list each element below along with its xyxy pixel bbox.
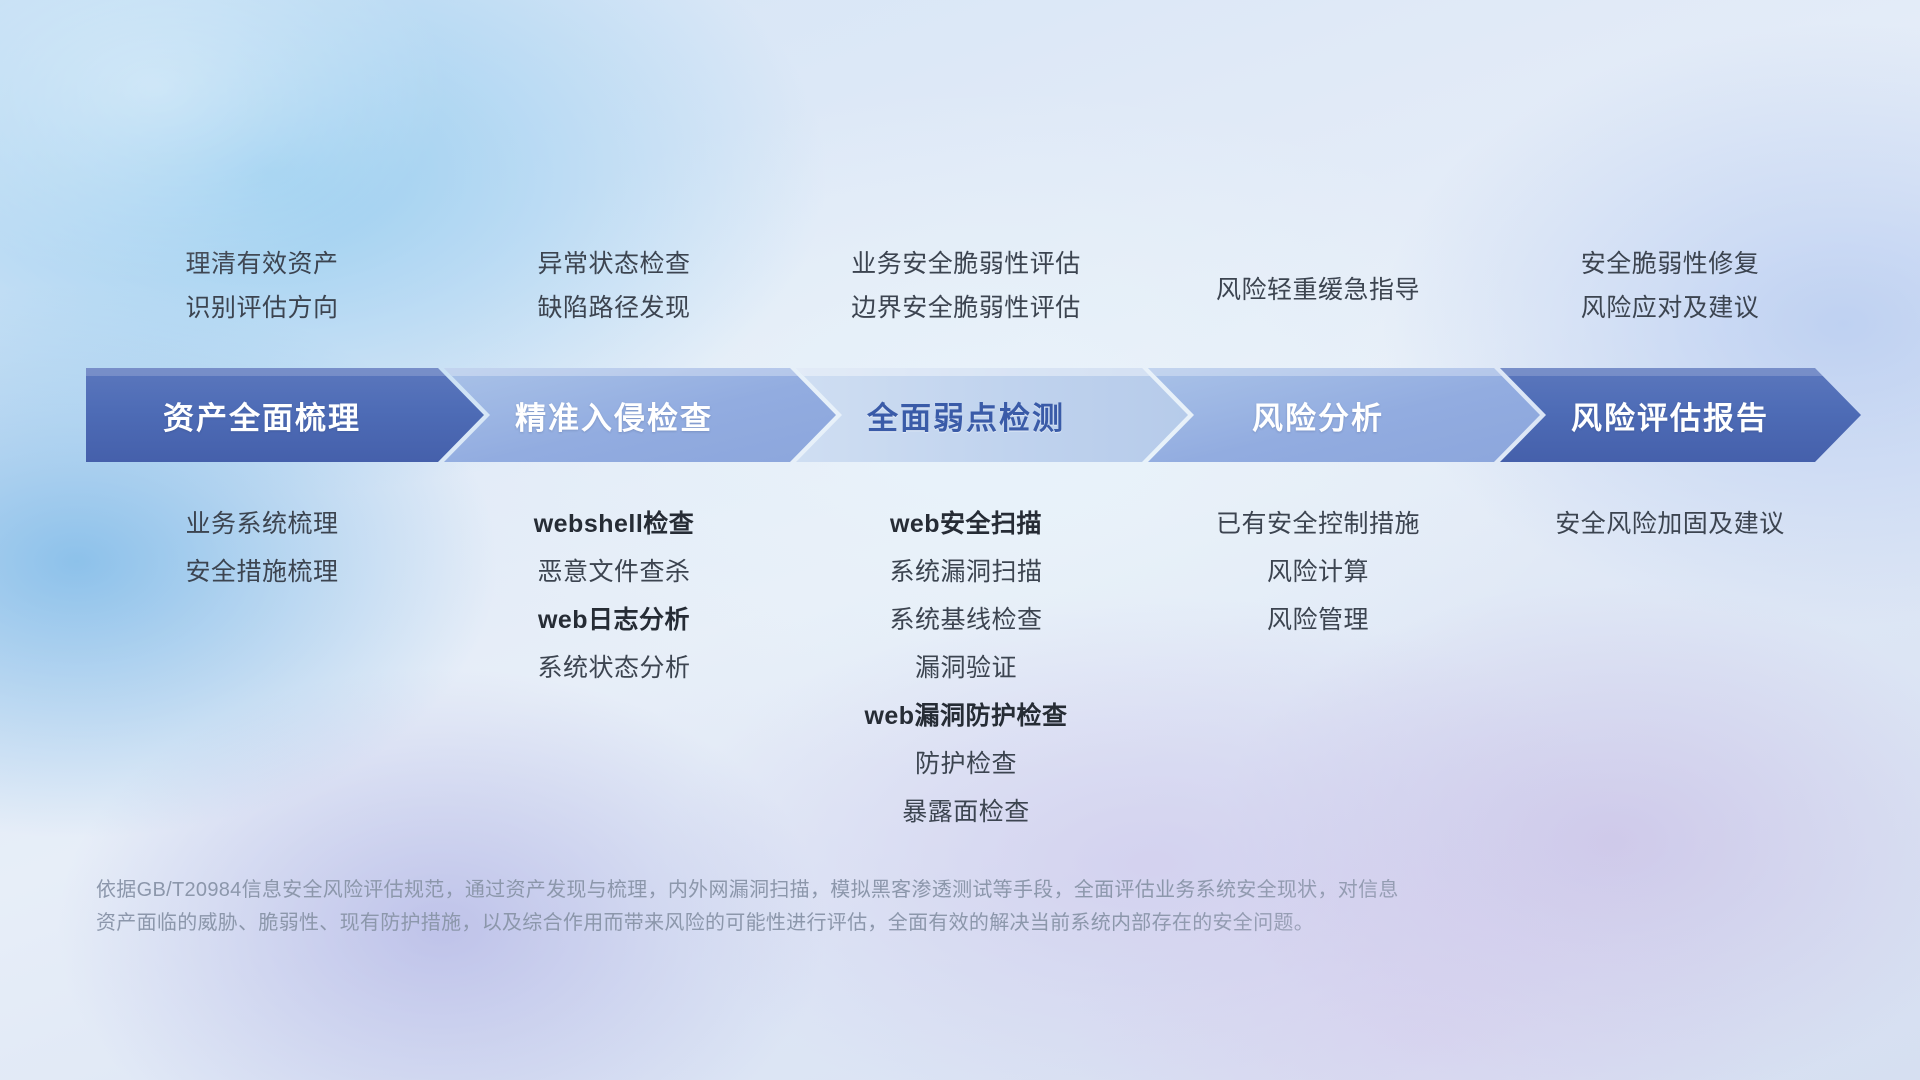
top-column-risk-report: 安全脆弱性修复 风险应对及建议 — [1494, 230, 1846, 330]
footer-description: 依据GB/T20984信息安全风险评估规范，通过资产发现与梳理，内外网漏洞扫描，… — [96, 874, 1596, 940]
footer-line: 资产面临的威胁、脆弱性、现有防护措施，以及综合作用而带来风险的可能性进行评估，全… — [96, 907, 1596, 940]
top-item: 缺陷路径发现 — [438, 286, 790, 330]
stage-title-risk-report[interactable]: 风险评估报告 — [1494, 368, 1846, 462]
detail-item: 风险管理 — [1142, 596, 1494, 644]
top-item: 风险轻重缓急指导 — [1142, 268, 1494, 312]
detail-item: 业务系统梳理 — [86, 500, 438, 548]
top-column-asset-inventory: 理清有效资产 识别评估方向 — [86, 230, 438, 330]
detail-item: 恶意文件查杀 — [438, 548, 790, 596]
top-annotations-row: 理清有效资产 识别评估方向 异常状态检查 缺陷路径发现 业务安全脆弱性评估 边界… — [86, 230, 1846, 330]
top-item: 边界安全脆弱性评估 — [790, 286, 1142, 330]
detail-item: 系统基线检查 — [790, 596, 1142, 644]
bottom-column-asset-inventory: 业务系统梳理 安全措施梳理 — [86, 500, 438, 596]
detail-item: web日志分析 — [438, 596, 790, 644]
top-item: 理清有效资产 — [86, 242, 438, 286]
stage-title-asset-inventory[interactable]: 资产全面梳理 — [86, 368, 438, 462]
detail-item: 暴露面检查 — [790, 788, 1142, 836]
bottom-column-risk-analysis: 已有安全控制措施 风险计算 风险管理 — [1142, 500, 1494, 644]
detail-item: 风险计算 — [1142, 548, 1494, 596]
process-arrow-banner: 资产全面梳理 精准入侵检查 全面弱点检测 风险分析 风险评估报告 — [86, 368, 1861, 462]
detail-item: 系统漏洞扫描 — [790, 548, 1142, 596]
bottom-column-intrusion-check: webshell检查 恶意文件查杀 web日志分析 系统状态分析 — [438, 500, 790, 692]
detail-item: 防护检查 — [790, 740, 1142, 788]
detail-item: web安全扫描 — [790, 500, 1142, 548]
top-column-intrusion-check: 异常状态检查 缺陷路径发现 — [438, 230, 790, 330]
bottom-column-weakness-detection: web安全扫描 系统漏洞扫描 系统基线检查 漏洞验证 web漏洞防护检查 防护检… — [790, 500, 1142, 836]
top-item: 业务安全脆弱性评估 — [790, 242, 1142, 286]
top-item: 安全脆弱性修复 — [1494, 242, 1846, 286]
detail-item: webshell检查 — [438, 500, 790, 548]
stage-title-weakness-detection[interactable]: 全面弱点检测 — [790, 368, 1142, 462]
detail-item: 漏洞验证 — [790, 644, 1142, 692]
bottom-column-risk-report: 安全风险加固及建议 — [1494, 500, 1846, 548]
top-item: 风险应对及建议 — [1494, 286, 1846, 330]
detail-item: web漏洞防护检查 — [790, 692, 1142, 740]
bottom-detail-row: 业务系统梳理 安全措施梳理 webshell检查 恶意文件查杀 web日志分析 … — [86, 500, 1846, 836]
stage-title-intrusion-check[interactable]: 精准入侵检查 — [438, 368, 790, 462]
top-column-weakness-detection: 业务安全脆弱性评估 边界安全脆弱性评估 — [790, 230, 1142, 330]
detail-item: 安全风险加固及建议 — [1494, 500, 1846, 548]
stage-title-risk-analysis[interactable]: 风险分析 — [1142, 368, 1494, 462]
top-column-risk-analysis: 风险轻重缓急指导 — [1142, 230, 1494, 312]
footer-line: 依据GB/T20984信息安全风险评估规范，通过资产发现与梳理，内外网漏洞扫描，… — [96, 874, 1596, 907]
detail-item: 安全措施梳理 — [86, 548, 438, 596]
detail-item: 已有安全控制措施 — [1142, 500, 1494, 548]
top-item: 异常状态检查 — [438, 242, 790, 286]
slide-canvas: 理清有效资产 识别评估方向 异常状态检查 缺陷路径发现 业务安全脆弱性评估 边界… — [0, 0, 1920, 1080]
top-item: 识别评估方向 — [86, 286, 438, 330]
detail-item: 系统状态分析 — [438, 644, 790, 692]
